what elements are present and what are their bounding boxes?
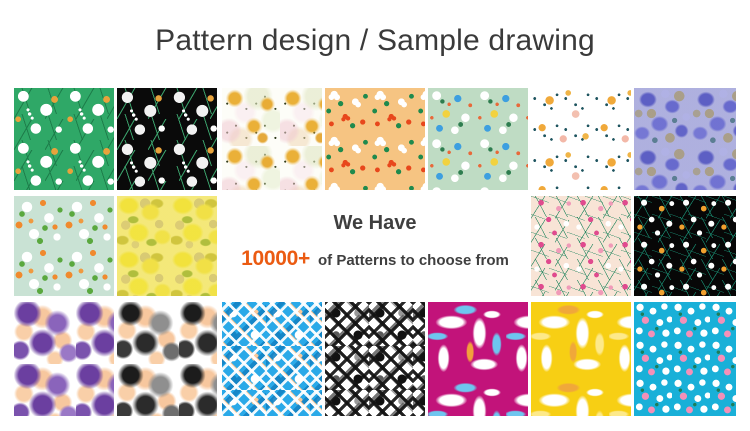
pattern-swatch-cyan-ditsy-floral[interactable] (634, 302, 736, 416)
pattern-fill (117, 88, 217, 190)
pattern-fill (634, 302, 736, 416)
pattern-swatch-yellow-lavender-floral[interactable] (117, 196, 217, 296)
pattern-fill (325, 302, 425, 416)
pattern-swatch-black-white-ikat-geometric[interactable] (325, 302, 425, 416)
pattern-fill (531, 196, 631, 296)
pattern-swatch-violet-watercolor-floral[interactable] (634, 88, 736, 190)
pattern-swatch-black-daisy-floral[interactable] (117, 88, 217, 190)
pattern-swatch-yellow-damask-scroll[interactable] (531, 302, 631, 416)
pattern-fill (222, 88, 322, 190)
pattern-swatch-purple-peach-daisy[interactable] (14, 302, 114, 416)
pattern-swatch-cream-pink-ditsy-floral[interactable] (531, 196, 631, 296)
pattern-swatch-peach-ditsy-floral[interactable] (325, 88, 425, 190)
highlight-subline: 10000+ of Patterns to choose from (241, 247, 509, 271)
pattern-banner: Pattern design / Sample drawing We Have … (0, 0, 750, 431)
pattern-swatch-mint-ditsy-floral[interactable] (428, 88, 528, 190)
pattern-swatch-blue-ikat-geometric[interactable] (222, 302, 322, 416)
pattern-swatch-gray-peach-daisy[interactable] (117, 302, 217, 416)
page-title: Pattern design / Sample drawing (0, 24, 750, 58)
pattern-swatch-white-sparse-floral[interactable] (531, 88, 631, 190)
pattern-swatch-black-ditsy-floral[interactable] (634, 196, 736, 296)
pattern-fill (428, 302, 528, 416)
pattern-swatch-green-daisy-floral[interactable] (14, 88, 114, 190)
center-highlight-panel: We Have 10000+ of Patterns to choose fro… (222, 196, 528, 288)
pattern-fill (14, 196, 114, 296)
pattern-fill (117, 196, 217, 296)
pattern-swatch-pale-mint-rose-floral[interactable] (14, 196, 114, 296)
pattern-fill (117, 302, 217, 416)
pattern-fill (531, 88, 631, 190)
pattern-swatch-magenta-damask-scroll[interactable] (428, 302, 528, 416)
highlight-headline: We Have (333, 213, 416, 233)
pattern-fill (531, 302, 631, 416)
pattern-fill (14, 302, 114, 416)
pattern-fill (634, 88, 736, 190)
pattern-fill (325, 88, 425, 190)
pattern-count: 10000+ (241, 247, 310, 271)
pattern-fill (14, 88, 114, 190)
pattern-fill (222, 302, 322, 416)
pattern-count-caption: of Patterns to choose from (318, 252, 509, 269)
pattern-swatch-watercolor-cream-floral[interactable] (222, 88, 322, 190)
pattern-fill (428, 88, 528, 190)
pattern-fill (634, 196, 736, 296)
